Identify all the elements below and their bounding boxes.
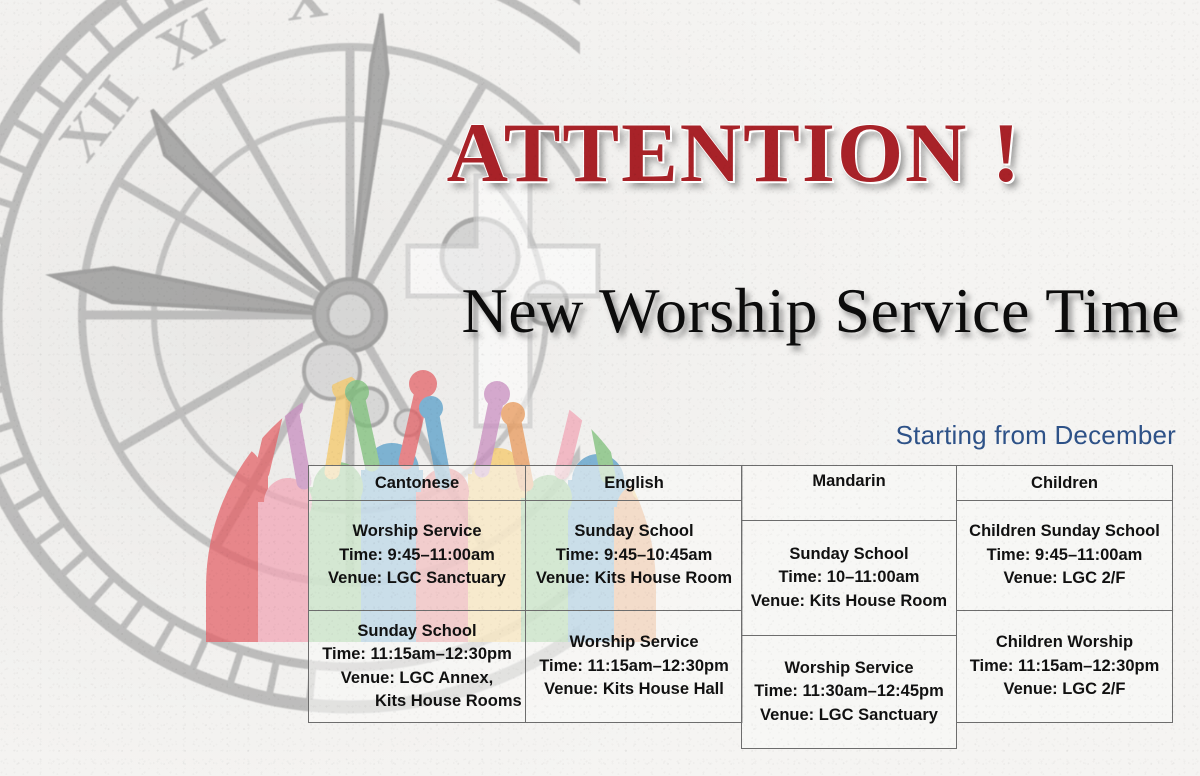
table-header-row: Children <box>957 466 1173 501</box>
schedule-table-cantonese-english: Cantonese English Worship Service Time: … <box>308 465 743 723</box>
service-time: Time: 11:30am–12:45pm <box>748 680 950 703</box>
table-header-row: Cantonese English <box>309 466 743 501</box>
service-title: Sunday School <box>315 620 519 643</box>
service-title: Worship Service <box>315 520 519 543</box>
column-header-mandarin: Mandarin <box>742 466 957 521</box>
cell-children-sunday-school: Children Sunday School Time: 9:45–11:00a… <box>957 501 1173 611</box>
page-subtitle: New Worship Service Time <box>0 274 1180 348</box>
start-date-note: Starting from December <box>0 420 1176 451</box>
service-venue: Venue: LGC Sanctuary <box>748 704 950 727</box>
service-venue: Venue: LGC 2/F <box>963 567 1166 590</box>
column-header-english: English <box>526 466 743 501</box>
table-row: Children Worship Time: 11:15am–12:30pm V… <box>957 611 1173 723</box>
service-title: Sunday School <box>532 520 736 543</box>
schedule-table-children: Children Children Sunday School Time: 9:… <box>956 465 1173 723</box>
cell-children-worship: Children Worship Time: 11:15am–12:30pm V… <box>957 611 1173 723</box>
cell-mandarin-sunday-school: Sunday School Time: 10–11:00am Venue: Ki… <box>742 521 957 636</box>
service-time: Time: 11:15am–12:30pm <box>963 655 1166 678</box>
table-row: Worship Service Time: 9:45–11:00am Venue… <box>309 501 743 611</box>
table-row: Sunday School Time: 11:15am–12:30pm Venu… <box>309 611 743 723</box>
cell-english-worship: Worship Service Time: 11:15am–12:30pm Ve… <box>526 611 743 723</box>
service-venue: Venue: Kits House Room <box>532 567 736 590</box>
service-time: Time: 9:45–11:00am <box>315 544 519 567</box>
service-time: Time: 9:45–10:45am <box>532 544 736 567</box>
service-title: Worship Service <box>748 657 950 680</box>
service-venue: Venue: LGC Annex, <box>315 667 519 690</box>
table-row: Sunday School Time: 10–11:00am Venue: Ki… <box>742 521 957 636</box>
service-time: Time: 10–11:00am <box>748 566 950 589</box>
service-title: Children Worship <box>963 631 1166 654</box>
cell-english-sunday-school: Sunday School Time: 9:45–10:45am Venue: … <box>526 501 743 611</box>
service-title: Children Sunday School <box>963 520 1166 543</box>
svg-text:XI: XI <box>146 0 234 83</box>
page-title: ATTENTION ! <box>0 104 1022 202</box>
service-title: Worship Service <box>532 631 736 654</box>
service-time: Time: 11:15am–12:30pm <box>532 655 736 678</box>
service-time: Time: 11:15am–12:30pm <box>315 643 519 666</box>
service-title: Sunday School <box>748 543 950 566</box>
service-time: Time: 9:45–11:00am <box>963 544 1166 567</box>
service-venue: Venue: Kits House Hall <box>532 678 736 701</box>
cell-mandarin-worship: Worship Service Time: 11:30am–12:45pm Ve… <box>742 636 957 749</box>
service-venue-line2: Kits House Rooms <box>315 690 519 713</box>
column-header-cantonese: Cantonese <box>309 466 526 501</box>
service-venue: Venue: Kits House Room <box>748 590 950 613</box>
cell-cantonese-sunday-school: Sunday School Time: 11:15am–12:30pm Venu… <box>309 611 526 723</box>
svg-text:X: X <box>280 0 331 34</box>
schedule-table-mandarin: Mandarin Sunday School Time: 10–11:00am … <box>741 465 957 749</box>
service-venue: Venue: LGC Sanctuary <box>315 567 519 590</box>
table-row: Children Sunday School Time: 9:45–11:00a… <box>957 501 1173 611</box>
cell-cantonese-worship: Worship Service Time: 9:45–11:00am Venue… <box>309 501 526 611</box>
column-header-children: Children <box>957 466 1173 501</box>
poster-canvas: XII XI X <box>0 0 1200 776</box>
service-venue: Venue: LGC 2/F <box>963 678 1166 701</box>
table-header-row: Mandarin <box>742 466 957 521</box>
table-row: Worship Service Time: 11:30am–12:45pm Ve… <box>742 636 957 749</box>
